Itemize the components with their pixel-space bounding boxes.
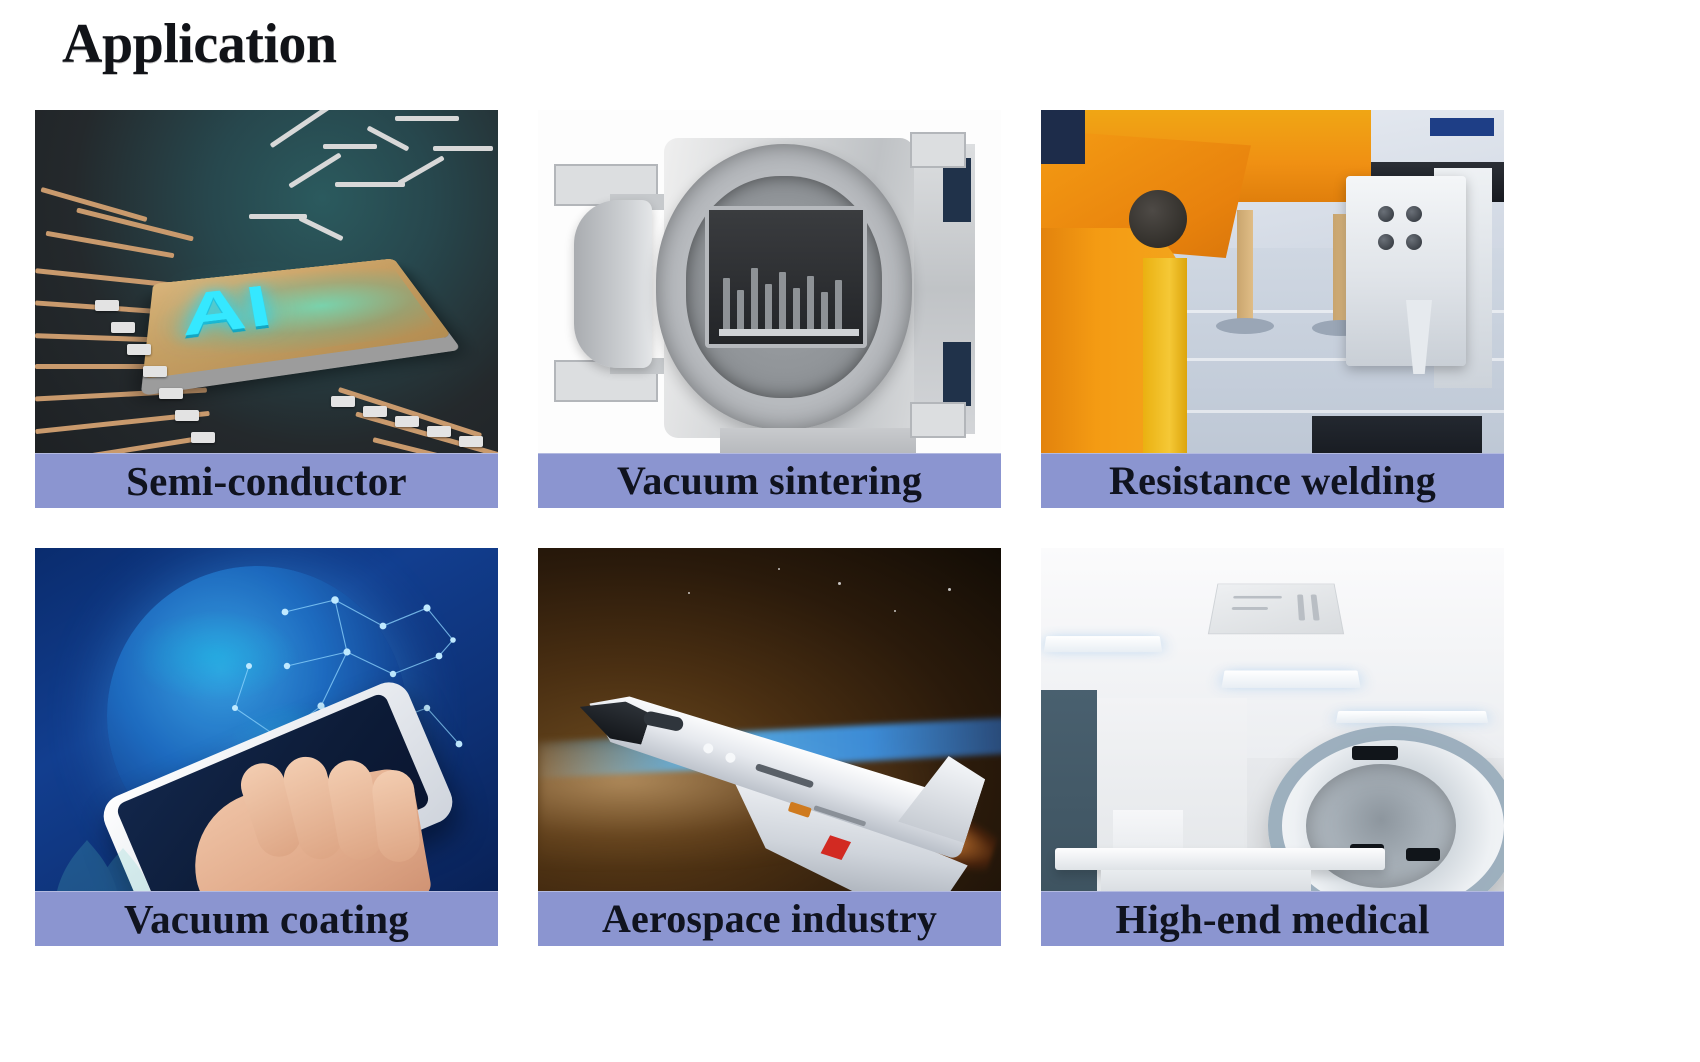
vacuum-furnace-illustration bbox=[538, 110, 1001, 478]
vacuum-coating-illustration bbox=[35, 548, 498, 916]
chip-ai-label: AI bbox=[183, 275, 280, 353]
welding-gun bbox=[1346, 176, 1466, 366]
application-card-vacuum-sintering[interactable]: Vacuum sintering bbox=[538, 110, 1001, 508]
space-shuttle-illustration bbox=[538, 548, 1001, 916]
page-title: Application bbox=[62, 12, 337, 76]
thumbnail-vacuum-coating bbox=[35, 548, 498, 916]
scanner-gantry bbox=[1268, 726, 1504, 916]
patient-table bbox=[1055, 848, 1385, 870]
thumbnail-vacuum-sintering bbox=[538, 110, 1001, 478]
application-card-aerospace-industry[interactable]: Aerospace industry bbox=[538, 548, 1001, 946]
caption-bar-vacuum-sintering: Vacuum sintering bbox=[538, 453, 1001, 508]
caption-bar-vacuum-coating: Vacuum coating bbox=[35, 891, 498, 946]
caption-bar-aerospace-industry: Aerospace industry bbox=[538, 891, 1001, 946]
caption-text: Aerospace industry bbox=[602, 895, 937, 942]
caption-bar-semi-conductor: Semi-conductor bbox=[35, 453, 498, 508]
space-shuttle bbox=[566, 642, 990, 899]
thumbnail-aerospace-industry bbox=[538, 548, 1001, 916]
chip-package bbox=[143, 258, 452, 379]
welding-robot-illustration bbox=[1041, 110, 1504, 478]
ceiling-vent bbox=[1208, 584, 1344, 635]
application-gallery-slide: Application bbox=[0, 0, 1700, 1062]
application-card-vacuum-coating[interactable]: Vacuum coating bbox=[35, 548, 498, 946]
caption-text: Resistance welding bbox=[1109, 457, 1436, 504]
caption-text: Vacuum coating bbox=[124, 895, 409, 943]
caption-bar-high-end-medical: High-end medical bbox=[1041, 891, 1504, 946]
smartphone bbox=[97, 675, 459, 916]
application-card-resistance-welding[interactable]: Resistance welding bbox=[1041, 110, 1504, 508]
application-card-semi-conductor[interactable]: AI Semi-conductor bbox=[35, 110, 498, 508]
application-card-high-end-medical[interactable]: High-end medical bbox=[1041, 548, 1504, 946]
caption-text: High-end medical bbox=[1115, 895, 1429, 943]
caption-text: Vacuum sintering bbox=[617, 457, 922, 504]
network-constellation-icon bbox=[35, 548, 498, 916]
thumbnail-high-end-medical bbox=[1041, 548, 1504, 916]
application-grid: AI Semi-conductor bbox=[35, 110, 1665, 946]
furnace-hearth bbox=[705, 206, 867, 348]
thumbnail-resistance-welding bbox=[1041, 110, 1504, 478]
thumbnail-semi-conductor: AI bbox=[35, 110, 498, 478]
caption-text: Semi-conductor bbox=[126, 457, 407, 505]
semiconductor-illustration: AI bbox=[35, 110, 498, 478]
caption-bar-resistance-welding: Resistance welding bbox=[1041, 453, 1504, 508]
medical-scanner-room-illustration bbox=[1041, 548, 1504, 916]
